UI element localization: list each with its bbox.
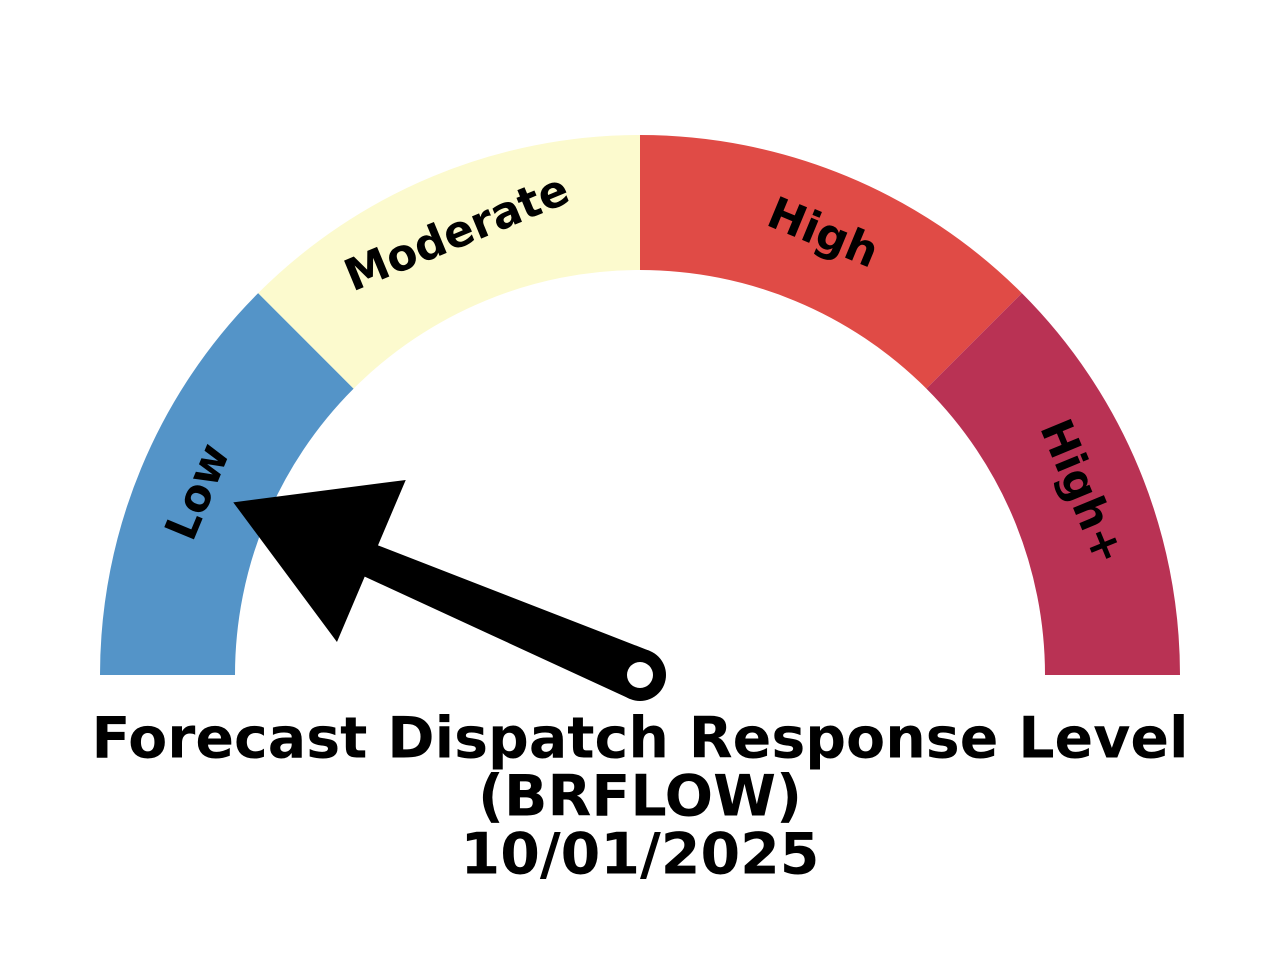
gauge-needle-hub-center (627, 662, 653, 688)
page-subtitle: (BRFLOW) (478, 764, 802, 830)
page-date: 10/01/2025 (461, 822, 820, 888)
gauge-svg: Low Moderate High High+ Forecast Dispatc… (0, 0, 1280, 960)
page-title: Forecast Dispatch Response Level (91, 706, 1188, 772)
gauge-chart-container: Low Moderate High High+ Forecast Dispatc… (0, 0, 1280, 960)
